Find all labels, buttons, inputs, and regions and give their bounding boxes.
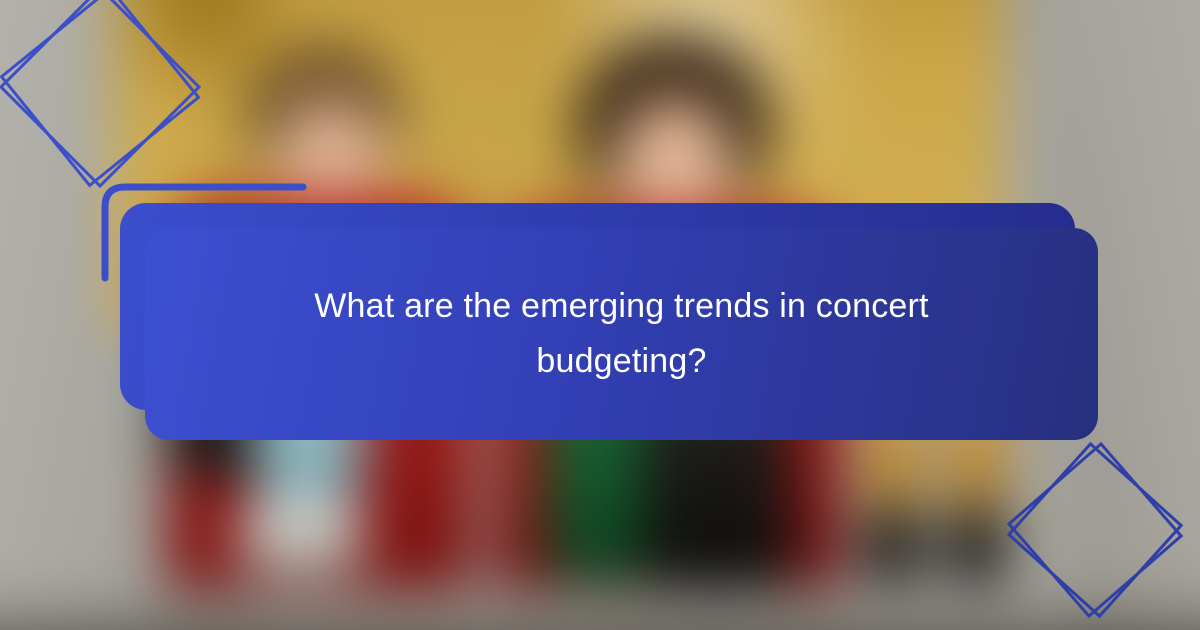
background-floor-shadow [0, 596, 1200, 630]
question-title: What are the emerging trends in concert … [242, 279, 1002, 389]
background-person-left-shoe [237, 498, 364, 576]
background-boot-right [946, 509, 1007, 583]
question-card: What are the emerging trends in concert … [145, 228, 1098, 440]
poster-canvas: What are the emerging trends in concert … [0, 0, 1200, 630]
background-boot-left [863, 509, 924, 583]
